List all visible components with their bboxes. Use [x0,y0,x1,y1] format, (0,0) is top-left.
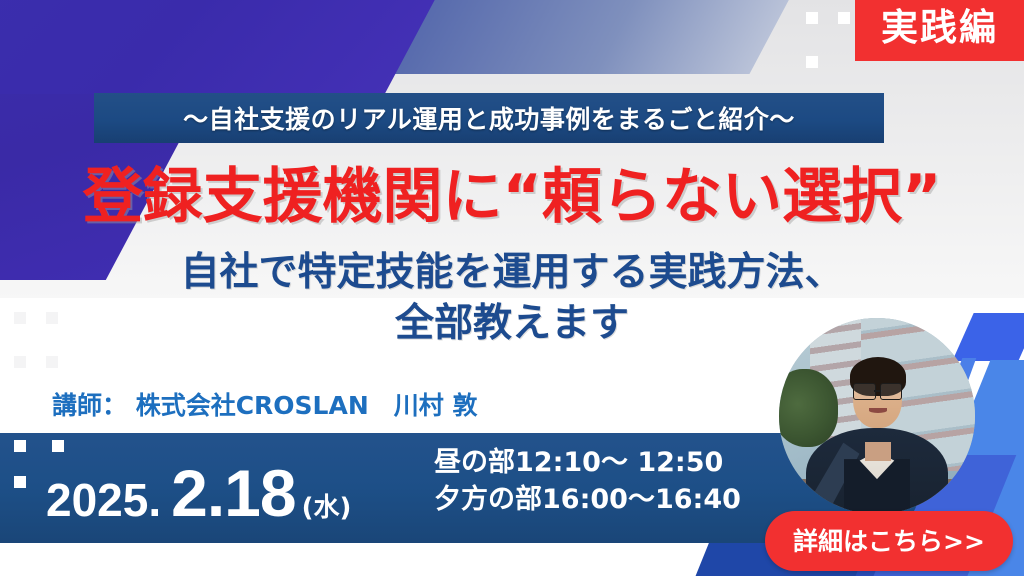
speaker-line: 講師： 株式会社CROSLAN 川村 敦 [52,386,477,422]
session-times: 昼の部12:10〜 12:50 夕方の部16:00〜16:40 [434,444,741,519]
glasses-icon [853,383,902,399]
subtitle-band: 〜自社支援のリアル運用と成功事例をまるごと紹介〜 [94,93,884,143]
diagonal-accent-purple [0,0,440,94]
photo-neck [865,442,890,462]
session-evening: 夕方の部16:00〜16:40 [434,481,741,518]
page-title-red: 登録支援機関に“頼らない選択” [0,166,1024,229]
event-date: 2025. 2.18 (水) [46,455,351,531]
event-date-year: 2025. [46,473,161,527]
photo-mouth [869,408,887,413]
status-badge: 実践編 [855,0,1024,61]
webinar-banner: 実践編 〜自社支援のリアル運用と成功事例をまるごと紹介〜 登録支援機関に“頼らな… [0,0,1024,576]
subtitle-text: 〜自社支援のリアル運用と成功事例をまるごと紹介〜 [183,100,795,136]
cta-button[interactable]: 詳細はこちら>> [765,511,1013,571]
page-subtitle-line1: 自社で特定技能を運用する実践方法、 [0,248,1024,299]
photo-tree [779,369,838,447]
session-noon: 昼の部12:10〜 12:50 [434,444,741,481]
event-date-day: 2.18 [161,455,295,531]
event-date-weekday: (水) [296,487,352,524]
avatar [779,318,975,514]
